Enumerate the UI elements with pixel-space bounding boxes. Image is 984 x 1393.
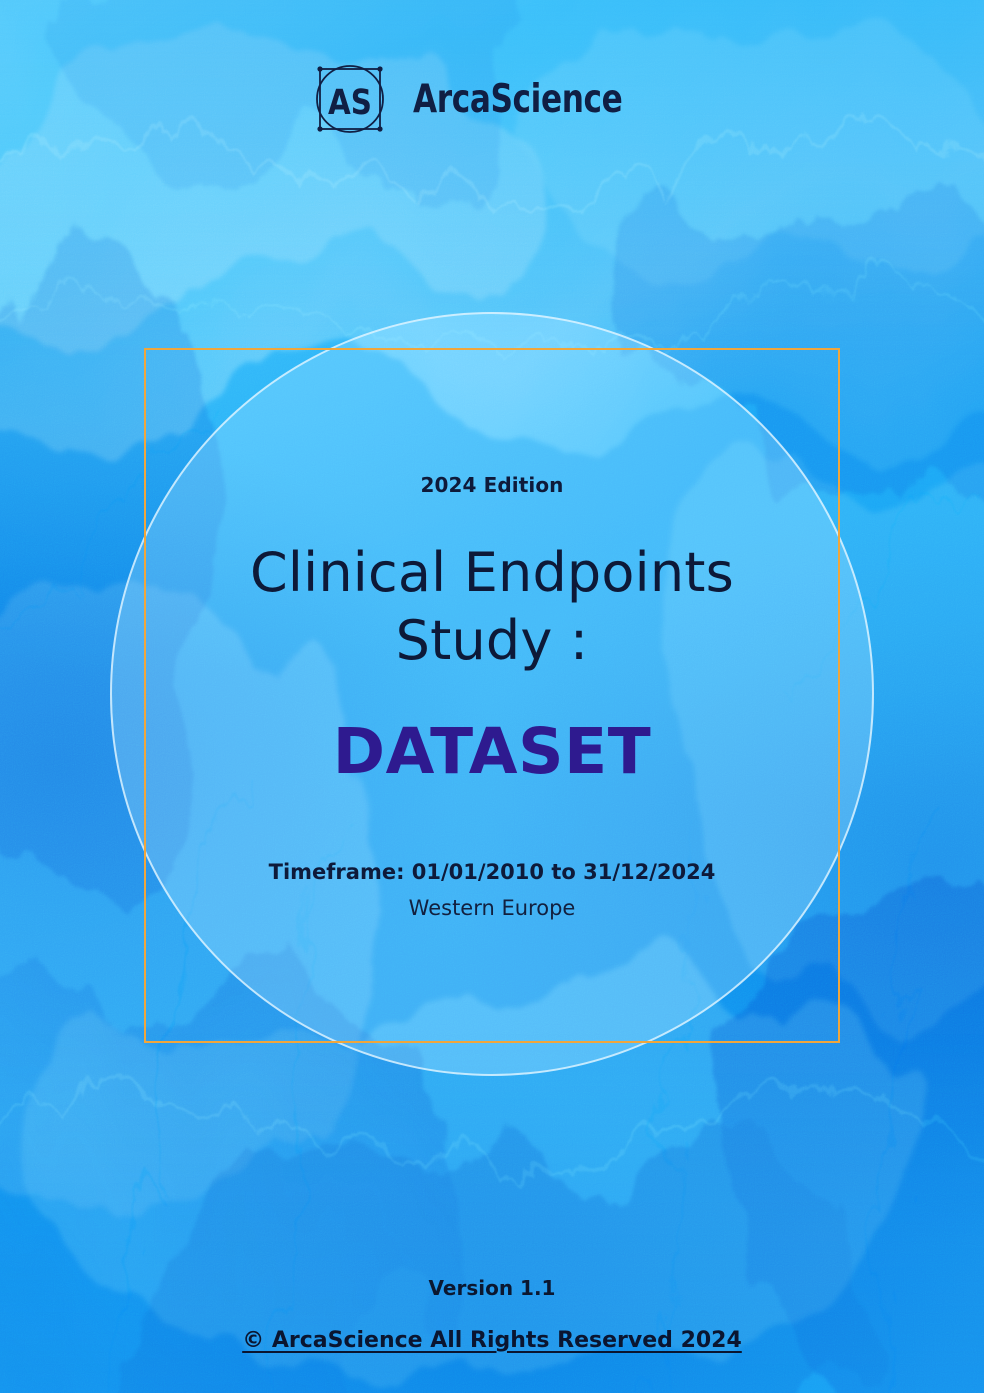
svg-text:AS: AS — [328, 82, 372, 123]
cover-footer: Version 1.1 © ArcaScience All Rights Res… — [0, 1276, 984, 1353]
brand-name: ArcaScience — [413, 77, 622, 122]
version-label: Version 1.1 — [0, 1276, 984, 1300]
cover-page: AS ArcaScience 2024 Edition Clinical End… — [0, 0, 984, 1393]
copyright-notice: © ArcaScience All Rights Reserved 2024 — [0, 1328, 984, 1353]
arcascience-logo-mark-icon: AS — [309, 58, 391, 140]
brand-logo: AS ArcaScience — [0, 58, 984, 140]
cover-content: 2024 Edition Clinical Endpoints Study : … — [144, 348, 840, 1043]
timeframe-label: Timeframe: 01/01/2010 to 31/12/2024 — [269, 860, 716, 884]
title-line-1: Clinical Endpoints — [250, 539, 734, 607]
title-line-2: Study : — [250, 607, 734, 675]
document-subject: DATASET — [333, 715, 652, 788]
document-title: Clinical Endpoints Study : — [250, 539, 734, 675]
region-label: Western Europe — [409, 896, 576, 920]
edition-label: 2024 Edition — [420, 473, 563, 497]
